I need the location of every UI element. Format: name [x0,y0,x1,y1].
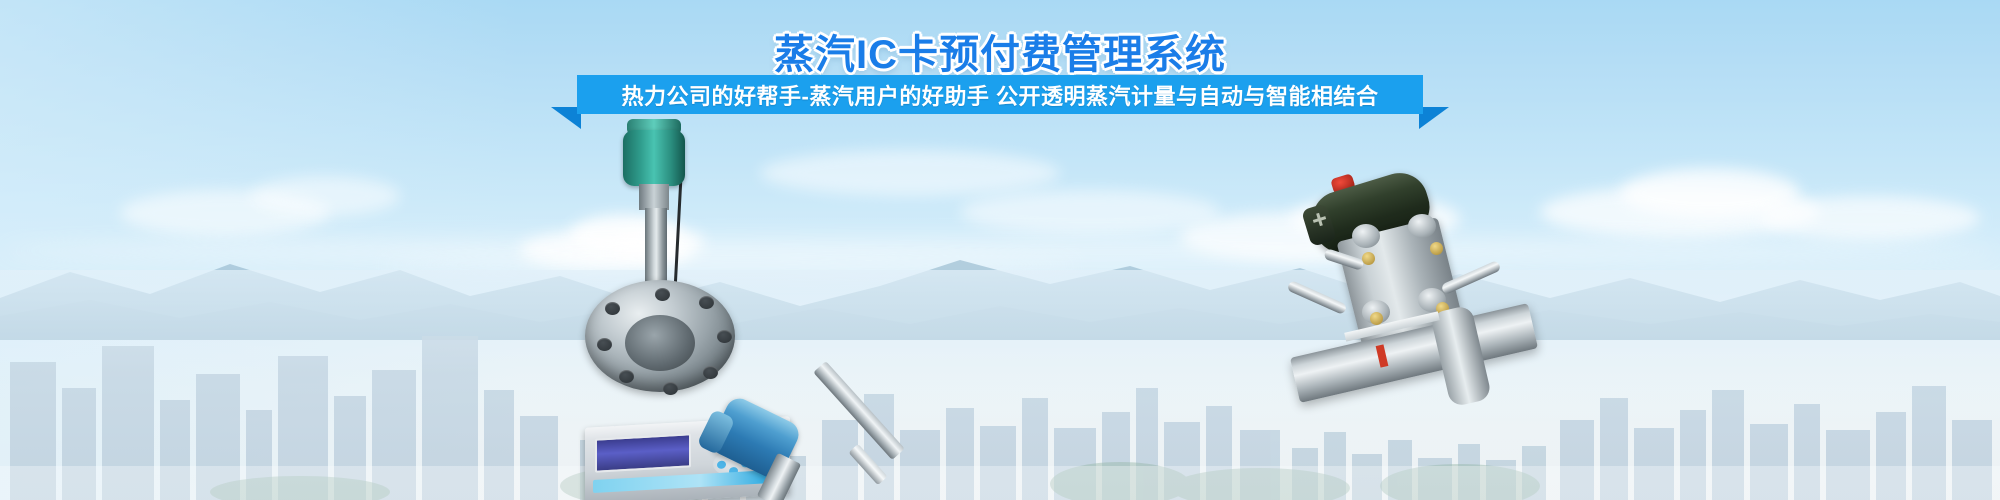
subtitle-text: 热力公司的好帮手-蒸汽用户的好助手 公开透明蒸汽计量与自动与智能相结合 [622,79,1379,111]
flange-bolt [703,366,718,379]
flange-bolt [605,302,620,315]
flange-bolt [619,370,634,383]
subtitle-ribbon: 热力公司的好帮手-蒸汽用户的好助手 公开透明蒸汽计量与自动与智能相结合 [577,75,1423,114]
flange-bolt [655,288,670,301]
flange-bolt [699,296,714,309]
flange-bolt [717,330,732,343]
page-title: 蒸汽IC卡预付费管理系统 [0,22,2000,80]
hero-banner: 蒸汽IC卡预付费管理系统 热力公司的好帮手-蒸汽用户的好助手 公开透明蒸汽计量与… [0,0,2000,500]
temperature-probe [800,402,930,500]
manifold-brass-fitting [1370,312,1383,325]
flange-bolt [663,382,678,395]
vortex-flange-bore [625,315,695,371]
vortex-flange-group [575,130,765,390]
manifold-boss [1352,224,1380,248]
flange-bolt [597,338,612,351]
valve-handle-left [1286,280,1347,315]
manifold-boss [1408,214,1436,238]
controller-display [595,433,691,472]
manifold-brass-fitting [1430,242,1443,255]
dp-transmitter-with-manifold [1290,140,1550,390]
city-skyline [0,270,2000,500]
ribbon-bar: 热力公司的好帮手-蒸汽用户的好助手 公开透明蒸汽计量与自动与智能相结合 [577,75,1423,114]
probe-tip [848,444,887,485]
manifold-brass-fitting [1362,252,1375,265]
